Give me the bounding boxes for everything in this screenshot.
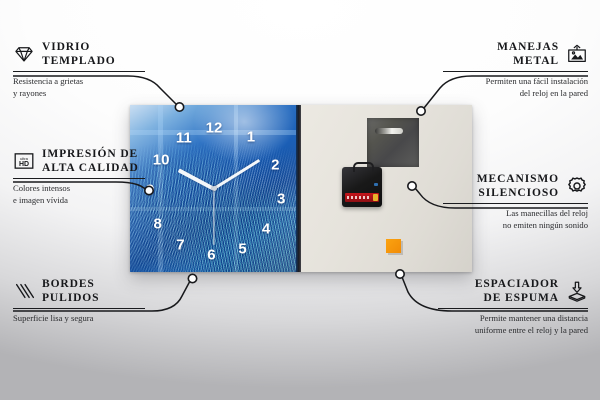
callout-espaciador-espuma: ESPACIADOR DE ESPUMA Permite mantener un…	[438, 277, 588, 336]
gear-icon	[566, 175, 588, 197]
callout-desc-line: uniforme entre el reloj y la pared	[438, 325, 588, 337]
ultra-hd-icon: ultra HD	[13, 150, 35, 172]
infographic-canvas: 12 1 2 3 4 5 6 7 8 9 10 11	[0, 0, 600, 400]
callout-desc-line: del reloj en la pared	[443, 88, 588, 100]
foam-spacer	[386, 239, 401, 253]
diamond-icon	[13, 43, 35, 65]
callout-header: MECANISMO SILENCIOSO	[443, 172, 588, 200]
callout-header: ESPACIADOR DE ESPUMA	[438, 277, 588, 305]
callout-header: BORDES PULIDOS	[13, 277, 145, 305]
metal-hanger-plate	[367, 118, 419, 167]
clock-center-cap	[212, 186, 217, 191]
callout-desc-line: no emiten ningún sonido	[443, 220, 588, 232]
callout-divider	[438, 308, 588, 309]
callout-header: ultra HD IMPRESIÓN DE ALTA CALIDAD	[13, 147, 145, 175]
callout-header: MANEJAS METAL	[443, 40, 588, 68]
clock-numeral-9: 9	[146, 183, 154, 198]
callout-desc-line: y rayones	[13, 88, 145, 100]
callout-divider	[13, 71, 145, 72]
callout-title: MECANISMO SILENCIOSO	[477, 172, 559, 200]
product-photo: 12 1 2 3 4 5 6 7 8 9 10 11	[130, 105, 472, 272]
polished-edges-icon	[13, 280, 35, 302]
movement-hanger-tab	[353, 162, 374, 172]
callout-desc-line: e imagen vívida	[13, 195, 145, 207]
clock-numeral-10: 10	[153, 153, 170, 168]
callout-bordes-pulidos: BORDES PULIDOS Superficie lisa y segura	[13, 277, 145, 325]
callout-mecanismo-silencioso: MECANISMO SILENCIOSO Las manecillas del …	[443, 172, 588, 231]
movement-detail	[374, 183, 378, 186]
callout-desc-line: Colores intensos	[13, 183, 145, 195]
clock-numeral-1: 1	[247, 129, 255, 144]
callout-manejas-metal: MANEJAS METAL Permiten una fácil instala…	[443, 40, 588, 99]
clock-numeral-5: 5	[238, 241, 246, 256]
clock-numeral-4: 4	[262, 221, 270, 236]
callout-divider	[13, 178, 145, 179]
callout-desc-line: Las manecillas del reloj	[443, 208, 588, 220]
callout-title: ESPACIADOR DE ESPUMA	[475, 277, 559, 305]
callout-desc-line: Superficie lisa y segura	[13, 313, 145, 325]
clock-numeral-2: 2	[271, 158, 279, 173]
callout-desc-line: Resistencia a grietas	[13, 76, 145, 88]
callout-title: IMPRESIÓN DE ALTA CALIDAD	[42, 147, 139, 175]
foam-spacer-icon	[566, 280, 588, 302]
clock-numeral-12: 12	[206, 120, 223, 135]
battery	[345, 193, 379, 202]
callout-divider	[13, 308, 145, 309]
connector-dot-bordes	[188, 274, 196, 282]
clock-numeral-6: 6	[207, 248, 215, 263]
callout-title: VIDRIO TEMPLADO	[42, 40, 116, 68]
hanger-slot	[375, 128, 403, 134]
battery-label	[347, 196, 369, 199]
callout-vidrio-templado: VIDRIO TEMPLADO Resistencia a grietas y …	[13, 40, 145, 99]
callout-divider	[443, 71, 588, 72]
picture-hanger-icon	[566, 43, 588, 65]
clock-face: 12 1 2 3 4 5 6 7 8 9 10 11	[130, 105, 298, 272]
callout-title: BORDES PULIDOS	[42, 277, 99, 305]
battery-terminal	[373, 194, 378, 201]
clock-numeral-11: 11	[176, 131, 192, 146]
callout-desc-line: Permite mantener una distancia	[438, 313, 588, 325]
callout-header: VIDRIO TEMPLADO	[13, 40, 145, 68]
callout-title: MANEJAS METAL	[497, 40, 559, 68]
callout-desc-line: Permiten una fácil instalación	[443, 76, 588, 88]
clock-numeral-8: 8	[154, 216, 162, 231]
callout-divider	[443, 203, 588, 204]
svg-text:HD: HD	[19, 161, 29, 168]
clock-numeral-3: 3	[277, 192, 285, 207]
clock-numeral-7: 7	[176, 238, 184, 253]
quartz-movement	[342, 167, 382, 207]
callout-impresion-alta-calidad: ultra HD IMPRESIÓN DE ALTA CALIDAD Color…	[13, 147, 145, 206]
